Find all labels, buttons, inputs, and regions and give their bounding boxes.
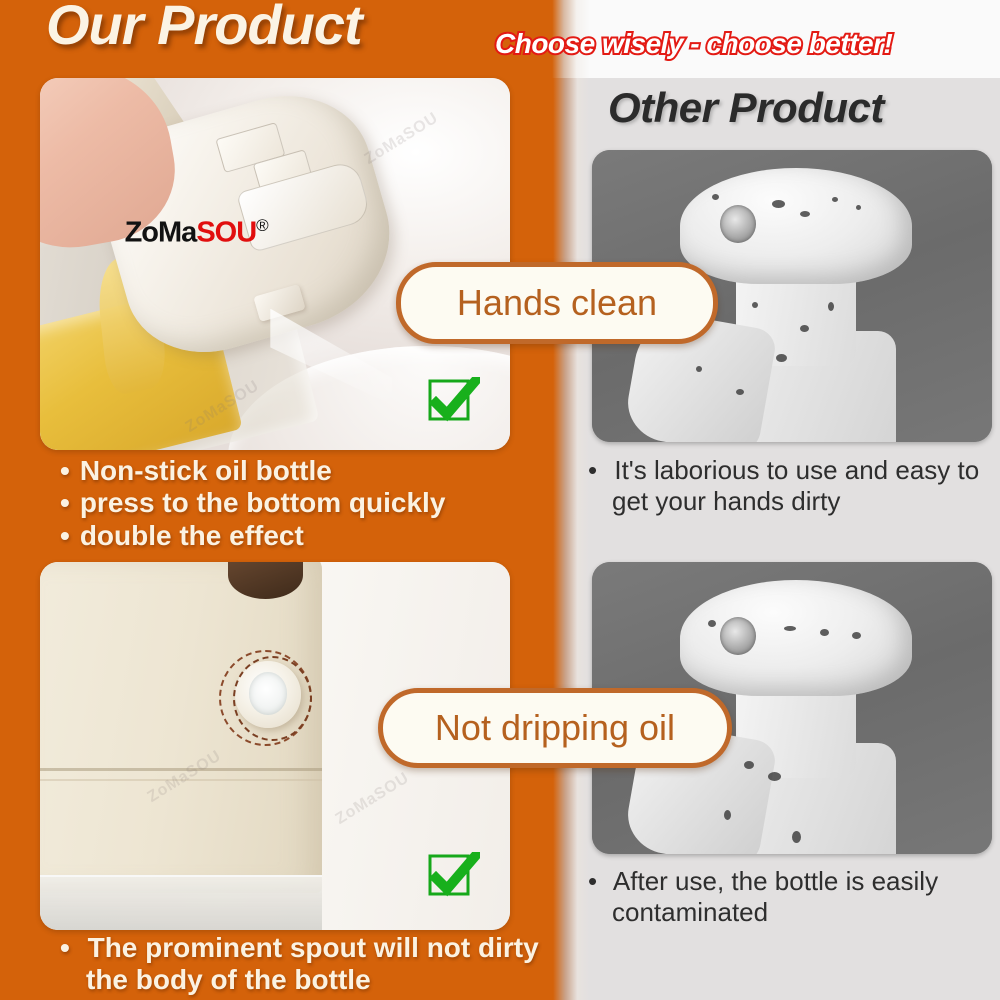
bullet-list: • Non-stick oil bottle • press to the bo…: [60, 455, 530, 552]
list-item-label: The prominent spout will not dirty the b…: [86, 932, 539, 995]
infographic-stage: Our Product Choose wisely - choose bette…: [0, 0, 1000, 1000]
dirt-speck: [792, 831, 801, 843]
list-item: • It's laborious to use and easy to get …: [588, 455, 988, 516]
list-item-label: press to the bottom quickly: [80, 487, 446, 519]
list-item: • Non-stick oil bottle: [60, 455, 530, 487]
bullet-list: • After use, the bottle is easily contam…: [588, 866, 988, 927]
dirt-speck: [744, 761, 754, 769]
list-item-label: Non-stick oil bottle: [80, 455, 332, 487]
other-product-heading: Other Product: [608, 84, 884, 132]
glass-base: [40, 875, 322, 930]
list-item: • After use, the bottle is easily contam…: [588, 866, 988, 927]
bullet-list: • The prominent spout will not dirty the…: [60, 932, 540, 997]
dirt-speck: [772, 200, 785, 208]
our-product-top-bullets: • Non-stick oil bottle • press to the bo…: [60, 455, 530, 552]
registered-trademark-icon: ®: [256, 216, 268, 235]
bullet-marker: •: [60, 520, 70, 552]
bullet-marker: •: [588, 866, 597, 896]
list-item-label: double the effect: [80, 520, 304, 552]
bullet-marker: •: [60, 487, 70, 519]
dirt-speck: [828, 302, 834, 311]
bullet-marker: •: [588, 455, 597, 485]
list-item: • The prominent spout will not dirty the…: [60, 932, 540, 997]
list-item-label: After use, the bottle is easily contamin…: [612, 866, 938, 927]
dirt-speck: [712, 194, 719, 200]
our-product-heading: Our Product: [46, 0, 362, 57]
list-item: • double the effect: [60, 520, 530, 552]
list-item: • press to the bottom quickly: [60, 487, 530, 519]
list-item-label: It's laborious to use and easy to get yo…: [612, 455, 979, 516]
other-product-bottom-bullets: • After use, the bottle is easily contam…: [588, 866, 988, 927]
badge-label: Hands clean: [457, 282, 657, 324]
brand-logo-red-text: SOU: [196, 216, 256, 248]
bottle-seam-line: [40, 768, 322, 771]
bullet-marker: •: [60, 455, 70, 487]
other-product-top-bullets: • It's laborious to use and easy to get …: [588, 455, 988, 516]
bottle-cap: [680, 580, 912, 697]
panel-divider: [545, 0, 590, 1000]
bullet-marker: •: [60, 932, 70, 963]
our-product-bottom-bullets: • The prominent spout will not dirty the…: [60, 932, 540, 997]
bottle-cap: [680, 168, 912, 285]
dirt-speck: [832, 197, 838, 202]
badge-not-dripping-oil: Not dripping oil: [378, 688, 732, 768]
bullet-list: • It's laborious to use and easy to get …: [588, 455, 988, 516]
green-check-icon: [428, 852, 480, 898]
brand-logo: ZoMaSOU®: [125, 216, 268, 250]
brand-logo-dark-text: ZoMa: [125, 216, 197, 248]
tagline-banner: Choose wisely - choose better!: [495, 28, 892, 60]
badge-label: Not dripping oil: [435, 707, 675, 749]
bottle-seam-line: [40, 779, 322, 781]
dirt-speck: [752, 302, 758, 308]
highlight-dashed-circle: [233, 656, 312, 741]
green-check-icon: [428, 377, 480, 423]
badge-hands-clean: Hands clean: [396, 262, 718, 344]
